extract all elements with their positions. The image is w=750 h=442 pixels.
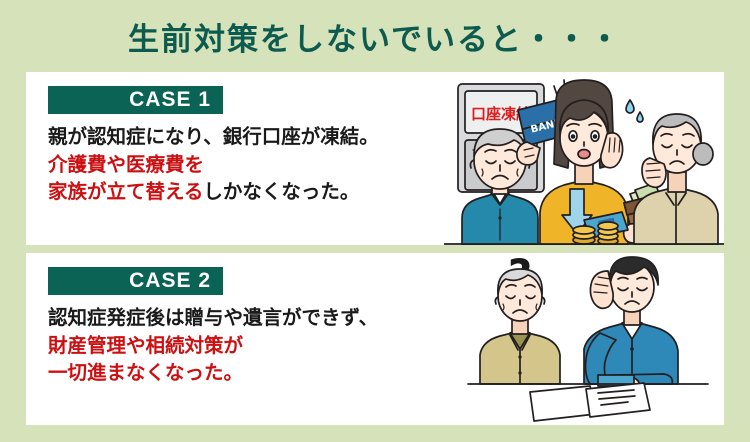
case-1-text-column: CASE 1 親が認知症になり、銀行口座が凍結。 介護費や医療費を 家族が立て替… <box>48 86 448 206</box>
case-2-line-3: 一切進まなくなった。 <box>48 359 448 387</box>
case-card-1: CASE 1 親が認知症になり、銀行口座が凍結。 介護費や医療費を 家族が立て替… <box>26 72 724 245</box>
page-title: 生前対策をしないでいると・・・ <box>0 14 750 59</box>
case-1-line-2: 介護費や医療費を <box>48 151 448 179</box>
case-1-illustration: .ol{fill:none;stroke:#231f20;stroke-widt… <box>444 72 724 245</box>
case-1-line-1: 親が認知症になり、銀行口座が凍結。 <box>48 123 448 151</box>
case-2-badge: CASE 2 <box>48 267 223 295</box>
case-2-line-2: 財産管理や相続対策が <box>48 332 448 360</box>
case-2-illustration: .o2{fill:none;stroke:#231f20;stroke-widt… <box>438 253 724 425</box>
case-1-line-3-seg-2: しかなくなった。 <box>203 180 359 203</box>
case-2-line-1-seg-1: 認知症発症後は贈与や遺言ができず、 <box>48 306 378 329</box>
case-1-badge: CASE 1 <box>48 86 223 114</box>
case-1-line-3: 家族が立て替えるしかなくなった。 <box>48 178 448 206</box>
case-1-line-3-seg-1: 家族が立て替える <box>48 180 203 203</box>
infographic-page: 生前対策をしないでいると・・・ CASE 1 親が認知症になり、銀行口座が凍結。… <box>0 0 750 442</box>
case-2-text-column: CASE 2 認知症発症後は贈与や遺言ができず、 財産管理や相続対策が 一切進ま… <box>48 267 448 387</box>
case-1-line-1-seg-1: 親が認知症になり、銀行口座が凍結。 <box>48 125 379 148</box>
case-card-2: CASE 2 認知症発症後は贈与や遺言ができず、 財産管理や相続対策が 一切進ま… <box>26 253 724 425</box>
case-2-body: 認知症発症後は贈与や遺言ができず、 財産管理や相続対策が 一切進まなくなった。 <box>48 304 448 387</box>
case-2-line-1: 認知症発症後は贈与や遺言ができず、 <box>48 304 448 332</box>
case-2-line-3-seg-1: 一切進まなくなった。 <box>48 361 243 384</box>
case-2-line-2-seg-1: 財産管理や相続対策が <box>48 334 243 357</box>
case-1-line-2-seg-1: 介護費や医療費を <box>48 153 204 176</box>
case-1-body: 親が認知症になり、銀行口座が凍結。 介護費や医療費を 家族が立て替えるしかなくな… <box>48 123 448 206</box>
